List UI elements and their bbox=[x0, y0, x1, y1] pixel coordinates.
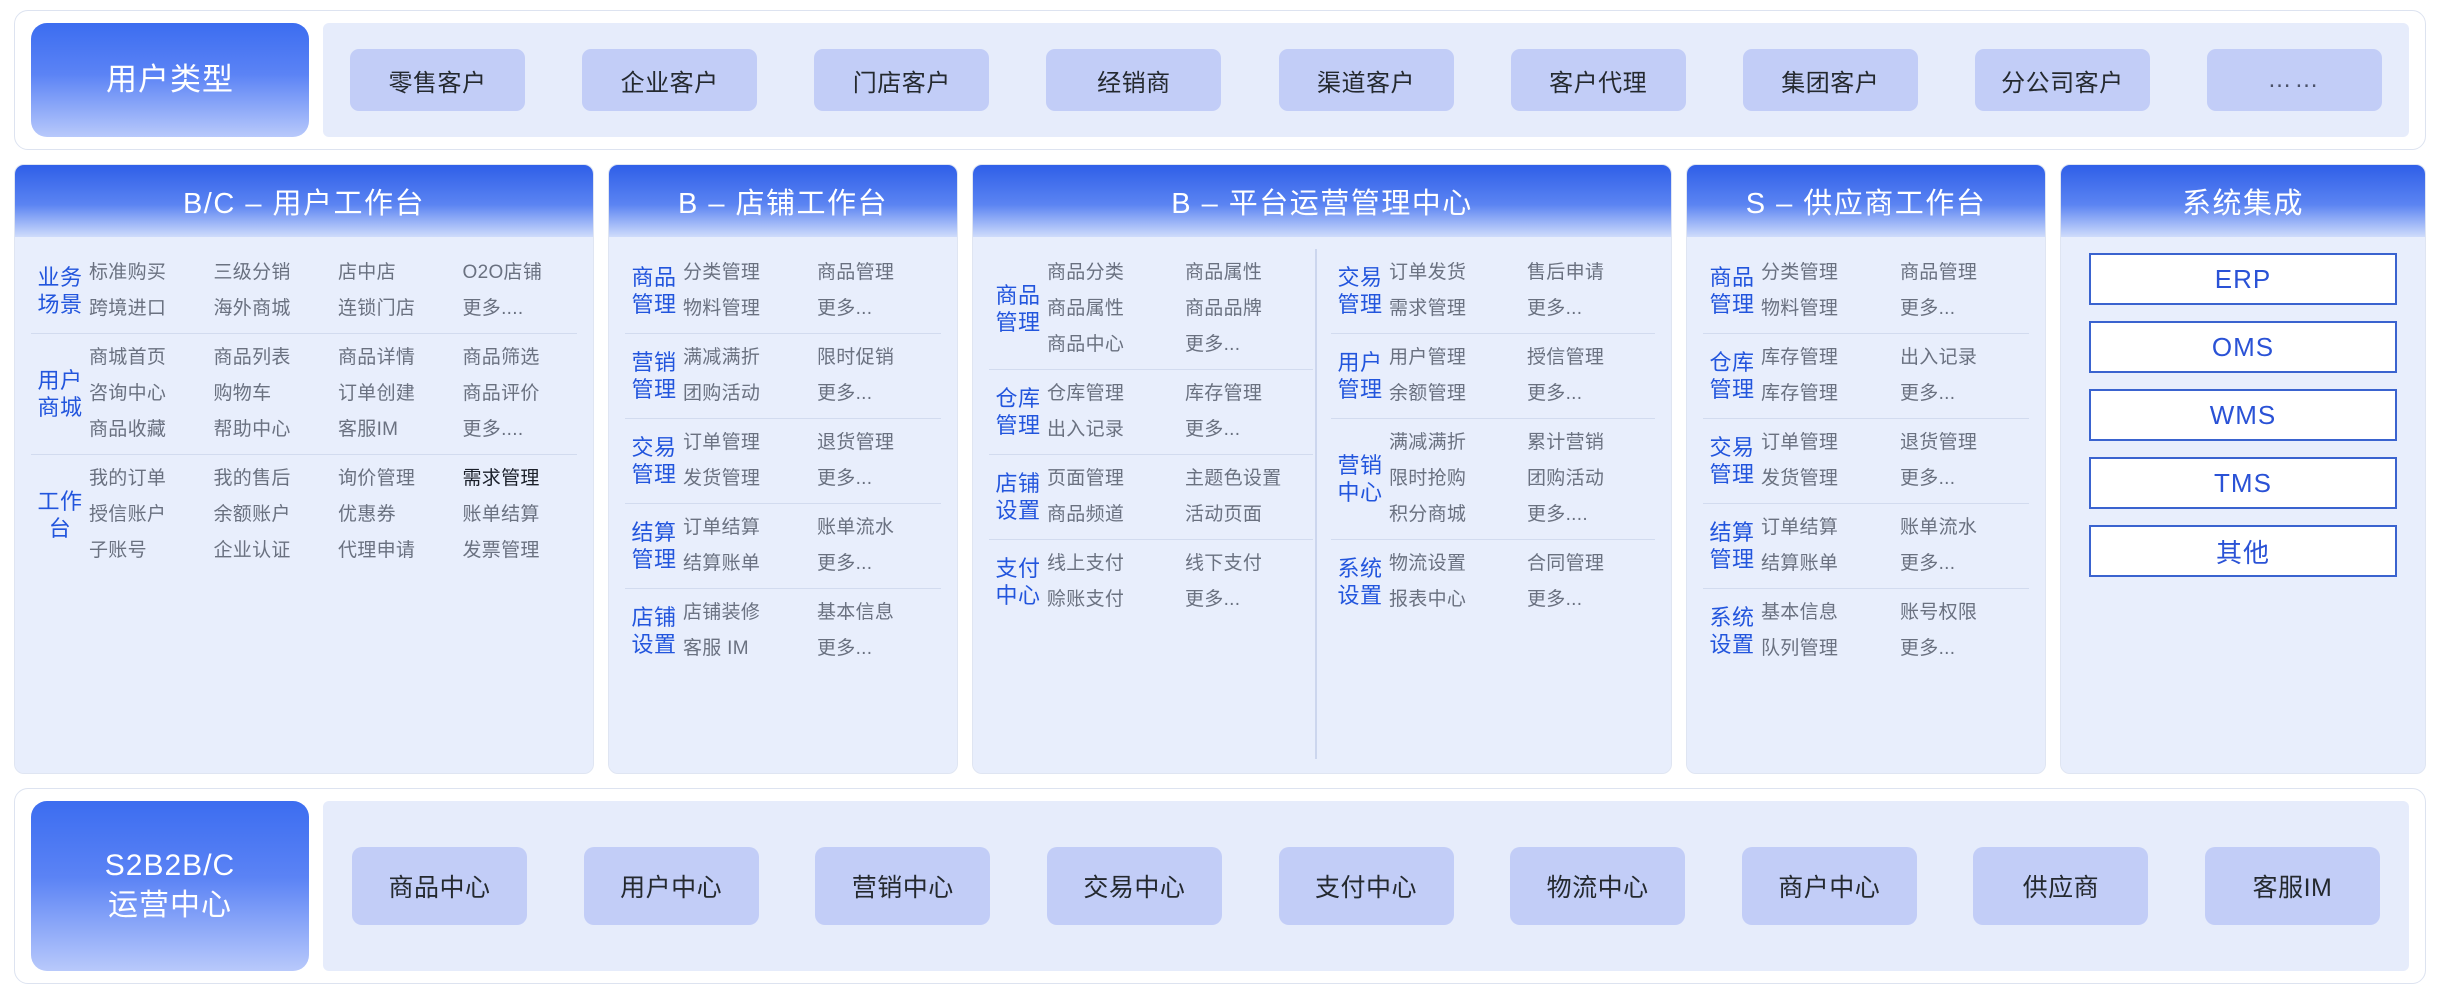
user-type-chip[interactable]: 分公司客户 bbox=[1975, 49, 2150, 111]
chip-label: 营销中心 bbox=[852, 868, 954, 904]
group-label: 营销 管理 bbox=[625, 349, 683, 404]
group-items: 订单管理 退货管理 发货管理 更多... bbox=[683, 428, 941, 494]
menu-item[interactable]: 结算账单 bbox=[683, 549, 807, 579]
menu-item[interactable]: 页面管理 bbox=[1047, 464, 1175, 494]
system-box-erp[interactable]: ERP bbox=[2089, 253, 2397, 305]
user-type-chip[interactable]: 渠道客户 bbox=[1279, 49, 1454, 111]
group-shop-settings: 店铺 设置 页面管理 主题色设置 商品频道 活动页面 bbox=[989, 454, 1313, 539]
group-label: 支付 中心 bbox=[989, 555, 1047, 610]
user-type-chip[interactable]: 零售客户 bbox=[350, 49, 525, 111]
menu-item[interactable]: 库存管理 bbox=[1185, 379, 1313, 409]
group-items: 线上支付 线下支付 赊账支付 更多... bbox=[1047, 549, 1313, 615]
menu-item[interactable]: 咨询中心 bbox=[89, 379, 204, 409]
group-items: 分类管理 商品管理 物料管理 更多... bbox=[1761, 258, 2029, 324]
chip-label: 供应商 bbox=[2023, 868, 2100, 904]
menu-item[interactable]: 限时促销 bbox=[817, 343, 941, 373]
center-chip-payment[interactable]: 支付中心 bbox=[1279, 847, 1454, 925]
menu-item-more[interactable]: 更多... bbox=[1527, 585, 1655, 615]
menu-item-more[interactable]: 更多... bbox=[817, 379, 941, 409]
menu-item-more[interactable]: 更多... bbox=[817, 549, 941, 579]
menu-item[interactable]: 账单结算 bbox=[463, 500, 578, 530]
menu-item[interactable]: 我的售后 bbox=[214, 464, 329, 494]
group-product-management: 商品 管理 商品分类 商品属性 商品属性 商品品牌 商品中心 更多... bbox=[989, 249, 1313, 369]
group-label: 店铺 设置 bbox=[625, 604, 683, 659]
group-system-settings: 系统 设置 物流设置 合同管理 报表中心 更多... bbox=[1331, 539, 1655, 624]
group-items: 物流设置 合同管理 报表中心 更多... bbox=[1389, 549, 1655, 615]
center-chip-product[interactable]: 商品中心 bbox=[352, 847, 527, 925]
chip-label: 物流中心 bbox=[1547, 868, 1649, 904]
system-box-other[interactable]: 其他 bbox=[2089, 525, 2397, 577]
group-transaction-management: 交易 管理 订单管理 退货管理 发货管理 更多... bbox=[1703, 418, 2029, 503]
column-body: 业务 场景 标准购买 三级分销 店中店 O2O店铺 跨境进口 海外商城 连锁门店… bbox=[15, 237, 593, 773]
chip-label: …… bbox=[2268, 66, 2322, 94]
menu-item[interactable]: 库存管理 bbox=[1761, 379, 1890, 409]
operation-center-chip-strip: 商品中心 用户中心 营销中心 交易中心 支付中心 物流中心 商户中心 供应商 客… bbox=[323, 801, 2409, 971]
group-label: 商品 管理 bbox=[1703, 264, 1761, 319]
group-items: 店铺装修 基本信息 客服 IM 更多... bbox=[683, 598, 941, 664]
system-box-oms[interactable]: OMS bbox=[2089, 321, 2397, 373]
menu-item[interactable]: 物料管理 bbox=[683, 294, 807, 324]
menu-item[interactable]: 商品属性 bbox=[1047, 294, 1175, 324]
group-items: 页面管理 主题色设置 商品频道 活动页面 bbox=[1047, 464, 1313, 530]
group-user-mall: 用户 商城 商城首页 商品列表 商品详情 商品筛选 咨询中心 购物车 订单创建 … bbox=[31, 333, 577, 454]
group-label: 交易 管理 bbox=[1703, 434, 1761, 489]
pane-primary: 业务 场景 标准购买 三级分销 店中店 O2O店铺 跨境进口 海外商城 连锁门店… bbox=[31, 249, 577, 759]
menu-item[interactable]: 授信管理 bbox=[1527, 343, 1655, 373]
group-settlement-management: 结算 管理 订单结算 账单流水 结算账单 更多... bbox=[1703, 503, 2029, 588]
menu-item-more[interactable]: 更多.... bbox=[463, 415, 578, 445]
group-workbench: 工作 台 我的订单 我的售后 询价管理 需求管理 授信账户 余额账户 优惠券 账… bbox=[31, 454, 577, 575]
group-payment-center: 支付 中心 线上支付 线下支付 赊账支付 更多... bbox=[989, 539, 1313, 624]
menu-item[interactable]: 仓库管理 bbox=[1047, 379, 1175, 409]
group-items: 基本信息 账号权限 队列管理 更多... bbox=[1761, 598, 2029, 664]
user-type-chip[interactable]: 门店客户 bbox=[814, 49, 989, 111]
chip-label: 用户中心 bbox=[620, 868, 722, 904]
user-type-chip-more[interactable]: …… bbox=[2207, 49, 2382, 111]
menu-item[interactable]: 商品中心 bbox=[1047, 330, 1175, 360]
menu-item[interactable]: 出入记录 bbox=[1047, 415, 1175, 445]
menu-item[interactable]: 团购活动 bbox=[683, 379, 807, 409]
menu-item[interactable]: 账号权限 bbox=[1900, 598, 2029, 628]
menu-item[interactable]: 合同管理 bbox=[1527, 549, 1655, 579]
center-chip-marketing[interactable]: 营销中心 bbox=[815, 847, 990, 925]
menu-item[interactable]: 发货管理 bbox=[1761, 464, 1890, 494]
menu-item[interactable]: 商品品牌 bbox=[1185, 294, 1313, 324]
menu-item-more[interactable]: 更多... bbox=[817, 294, 941, 324]
menu-item[interactable]: 售后申请 bbox=[1527, 258, 1655, 288]
menu-item-more[interactable]: 更多... bbox=[1900, 294, 2029, 324]
menu-item-more[interactable]: 更多... bbox=[1527, 294, 1655, 324]
menu-item-more[interactable]: 更多... bbox=[817, 464, 941, 494]
group-label: 交易 管理 bbox=[625, 434, 683, 489]
group-warehouse-management: 仓库 管理 仓库管理 库存管理 出入记录 更多... bbox=[989, 369, 1313, 454]
menu-item[interactable]: 店铺装修 bbox=[683, 598, 807, 628]
menu-item[interactable]: 限时抢购 bbox=[1389, 464, 1517, 494]
column-b-platform-operations: B – 平台运营管理中心 商品 管理 商品分类 商品属性 商品属性 商品品牌 商… bbox=[972, 164, 1672, 774]
menu-item[interactable]: 商品频道 bbox=[1047, 500, 1175, 530]
column-title: B – 平台运营管理中心 bbox=[973, 165, 1671, 237]
system-box-label: OMS bbox=[2212, 332, 2274, 363]
column-title: S – 供应商工作台 bbox=[1687, 165, 2045, 237]
group-label: 用户 管理 bbox=[1331, 349, 1389, 404]
pane-primary: 商品 管理 分类管理 商品管理 物料管理 更多... 营销 管理 满减满折 限时… bbox=[625, 249, 941, 759]
chip-label: 企业客户 bbox=[621, 63, 719, 98]
user-type-chip[interactable]: 集团客户 bbox=[1743, 49, 1918, 111]
menu-item[interactable]: 积分商城 bbox=[1389, 500, 1517, 530]
system-box-label: TMS bbox=[2214, 468, 2272, 499]
menu-item[interactable]: 跨境进口 bbox=[89, 294, 204, 324]
group-product-management: 商品 管理 分类管理 商品管理 物料管理 更多... bbox=[625, 249, 941, 333]
menu-item[interactable]: 线上支付 bbox=[1047, 549, 1175, 579]
menu-item[interactable]: 出入记录 bbox=[1900, 343, 2029, 373]
menu-item[interactable]: 订单发货 bbox=[1389, 258, 1517, 288]
menu-item-more[interactable]: 更多... bbox=[1900, 549, 2029, 579]
group-settlement-management: 结算 管理 订单结算 账单流水 结算账单 更多... bbox=[625, 503, 941, 588]
user-type-tile-label: 用户类型 bbox=[106, 59, 234, 101]
group-label: 营销 中心 bbox=[1331, 452, 1389, 507]
menu-item[interactable]: 海外商城 bbox=[214, 294, 329, 324]
menu-item-more[interactable]: 更多... bbox=[1900, 634, 2029, 664]
menu-item[interactable]: 授信账户 bbox=[89, 500, 204, 530]
chip-label: 分公司客户 bbox=[2001, 63, 2124, 98]
menu-item[interactable]: 订单创建 bbox=[338, 379, 453, 409]
menu-item[interactable]: 商品详情 bbox=[338, 343, 453, 373]
menu-item[interactable]: 分类管理 bbox=[683, 258, 807, 288]
menu-item[interactable]: 满减满折 bbox=[1389, 428, 1517, 458]
menu-item[interactable]: 发票管理 bbox=[463, 536, 578, 566]
group-label: 商品 管理 bbox=[989, 282, 1047, 337]
menu-item[interactable]: 需求管理 bbox=[1389, 294, 1517, 324]
menu-item[interactable]: 报表中心 bbox=[1389, 585, 1517, 615]
menu-item[interactable]: 赊账支付 bbox=[1047, 585, 1175, 615]
column-title-label: B – 店铺工作台 bbox=[678, 180, 888, 222]
column-title: 系统集成 bbox=[2061, 165, 2425, 237]
group-items: 标准购买 三级分销 店中店 O2O店铺 跨境进口 海外商城 连锁门店 更多...… bbox=[89, 258, 577, 324]
center-chip-logistics[interactable]: 物流中心 bbox=[1510, 847, 1685, 925]
group-items: 满减满折 累计营销 限时抢购 团购活动 积分商城 更多.... bbox=[1389, 428, 1655, 530]
menu-item[interactable]: 商品管理 bbox=[817, 258, 941, 288]
group-label: 系统 设置 bbox=[1331, 555, 1389, 610]
menu-item[interactable]: 商品筛选 bbox=[463, 343, 578, 373]
column-title: B – 店铺工作台 bbox=[609, 165, 957, 237]
chip-label: 客户代理 bbox=[1549, 63, 1647, 98]
menu-item[interactable]: 物流设置 bbox=[1389, 549, 1517, 579]
column-b-shop-workbench: B – 店铺工作台 商品 管理 分类管理 商品管理 物料管理 更多... bbox=[608, 164, 958, 774]
menu-item[interactable]: 订单管理 bbox=[683, 428, 807, 458]
group-items: 分类管理 商品管理 物料管理 更多... bbox=[683, 258, 941, 324]
menu-item[interactable]: 子账号 bbox=[89, 536, 204, 566]
group-items: 库存管理 出入记录 库存管理 更多... bbox=[1761, 343, 2029, 409]
center-chip-transaction[interactable]: 交易中心 bbox=[1047, 847, 1222, 925]
menu-item-more[interactable]: 更多... bbox=[817, 634, 941, 664]
menu-item[interactable]: 活动页面 bbox=[1185, 500, 1313, 530]
menu-item[interactable]: 退货管理 bbox=[817, 428, 941, 458]
column-bc-user-workbench: B/C – 用户工作台 业务 场景 标准购买 三级分销 店中店 O2O店铺 跨境… bbox=[14, 164, 594, 774]
operation-center-tile-label: S2B2B/C 运营中心 bbox=[105, 846, 235, 927]
menu-item[interactable]: 账单流水 bbox=[817, 513, 941, 543]
menu-item[interactable]: 客服IM bbox=[338, 415, 453, 445]
group-label: 系统 设置 bbox=[1703, 604, 1761, 659]
menu-item[interactable]: 代理申请 bbox=[338, 536, 453, 566]
menu-item[interactable]: 商品评价 bbox=[463, 379, 578, 409]
group-product-management: 商品 管理 分类管理 商品管理 物料管理 更多... bbox=[1703, 249, 2029, 333]
menu-item[interactable]: 商品属性 bbox=[1185, 258, 1313, 288]
menu-item[interactable]: 购物车 bbox=[214, 379, 329, 409]
menu-item[interactable]: 线下支付 bbox=[1185, 549, 1313, 579]
group-items: 满减满折 限时促销 团购活动 更多... bbox=[683, 343, 941, 409]
user-type-bar: 用户类型 零售客户 企业客户 门店客户 经销商 渠道客户 客户代理 集团客户 分… bbox=[14, 10, 2426, 150]
menu-item[interactable]: 物料管理 bbox=[1761, 294, 1890, 324]
group-label: 店铺 设置 bbox=[989, 470, 1047, 525]
group-system-settings: 系统 设置 基本信息 账号权限 队列管理 更多... bbox=[1703, 588, 2029, 673]
column-s-supplier-workbench: S – 供应商工作台 商品 管理 分类管理 商品管理 物料管理 更多... bbox=[1686, 164, 2046, 774]
column-title-label: 系统集成 bbox=[2182, 180, 2304, 222]
menu-item[interactable]: 订单结算 bbox=[1761, 513, 1890, 543]
user-type-chip[interactable]: 客户代理 bbox=[1511, 49, 1686, 111]
group-marketing-center: 营销 中心 满减满折 累计营销 限时抢购 团购活动 积分商城 更多.... bbox=[1331, 418, 1655, 539]
chip-label: 商品中心 bbox=[388, 868, 490, 904]
system-box-label: WMS bbox=[2210, 400, 2277, 431]
menu-item[interactable]: 退货管理 bbox=[1900, 428, 2029, 458]
menu-item-highlighted[interactable]: 需求管理 bbox=[463, 464, 578, 494]
menu-item[interactable]: O2O店铺 bbox=[463, 258, 578, 288]
group-marketing-management: 营销 管理 满减满折 限时促销 团购活动 更多... bbox=[625, 333, 941, 418]
column-title-label: B – 平台运营管理中心 bbox=[1171, 180, 1473, 222]
group-shop-settings: 店铺 设置 店铺装修 基本信息 客服 IM 更多... bbox=[625, 588, 941, 673]
menu-item-more[interactable]: 更多... bbox=[1900, 379, 2029, 409]
menu-item[interactable]: 商品分类 bbox=[1047, 258, 1175, 288]
group-user-management: 用户 管理 用户管理 授信管理 余额管理 更多... bbox=[1331, 333, 1655, 418]
group-items: 订单结算 账单流水 结算账单 更多... bbox=[1761, 513, 2029, 579]
menu-item[interactable]: 用户管理 bbox=[1389, 343, 1517, 373]
menu-item[interactable]: 标准购买 bbox=[89, 258, 204, 288]
group-transaction-management: 交易 管理 订单管理 退货管理 发货管理 更多... bbox=[625, 418, 941, 503]
menu-item[interactable]: 我的订单 bbox=[89, 464, 204, 494]
menu-item[interactable]: 库存管理 bbox=[1761, 343, 1890, 373]
center-chip-supplier[interactable]: 供应商 bbox=[1973, 847, 2148, 925]
menu-item-more[interactable]: 更多.... bbox=[463, 294, 578, 324]
chip-label: 客服IM bbox=[2253, 868, 2333, 904]
menu-item[interactable]: 商城首页 bbox=[89, 343, 204, 373]
group-business-scene: 业务 场景 标准购买 三级分销 店中店 O2O店铺 跨境进口 海外商城 连锁门店… bbox=[31, 249, 577, 333]
group-label: 商品 管理 bbox=[625, 264, 683, 319]
operation-center-tile: S2B2B/C 运营中心 bbox=[31, 801, 309, 971]
group-items: 订单结算 账单流水 结算账单 更多... bbox=[683, 513, 941, 579]
user-type-tile: 用户类型 bbox=[31, 23, 309, 137]
menu-item[interactable]: 客服 IM bbox=[683, 634, 807, 664]
column-title-label: S – 供应商工作台 bbox=[1746, 180, 1987, 222]
chip-label: 交易中心 bbox=[1083, 868, 1185, 904]
menu-item-more[interactable]: 更多... bbox=[1185, 585, 1313, 615]
group-items: 商品分类 商品属性 商品属性 商品品牌 商品中心 更多... bbox=[1047, 258, 1313, 360]
menu-item[interactable]: 基本信息 bbox=[817, 598, 941, 628]
menu-item[interactable]: 团购活动 bbox=[1527, 464, 1655, 494]
menu-item[interactable]: 优惠券 bbox=[338, 500, 453, 530]
menu-item[interactable]: 询价管理 bbox=[338, 464, 453, 494]
menu-item[interactable]: 连锁门店 bbox=[338, 294, 453, 324]
menu-item[interactable]: 队列管理 bbox=[1761, 634, 1890, 664]
group-label: 交易 管理 bbox=[1331, 264, 1389, 319]
pane-left: 商品 管理 商品分类 商品属性 商品属性 商品品牌 商品中心 更多... 仓库 … bbox=[989, 249, 1313, 759]
menu-item[interactable]: 店中店 bbox=[338, 258, 453, 288]
menu-item[interactable]: 三级分销 bbox=[214, 258, 329, 288]
group-warehouse-management: 仓库 管理 库存管理 出入记录 库存管理 更多... bbox=[1703, 333, 2029, 418]
operation-center-bar: S2B2B/C 运营中心 商品中心 用户中心 营销中心 交易中心 支付中心 物流… bbox=[14, 788, 2426, 984]
column-body: 商品 管理 商品分类 商品属性 商品属性 商品品牌 商品中心 更多... 仓库 … bbox=[973, 237, 1671, 773]
menu-item[interactable]: 商品管理 bbox=[1900, 258, 2029, 288]
group-label: 仓库 管理 bbox=[989, 385, 1047, 440]
column-system-integration: 系统集成 ERP OMS WMS TMS 其他 bbox=[2060, 164, 2426, 774]
menu-item-more[interactable]: 更多... bbox=[1185, 415, 1313, 445]
menu-item[interactable]: 商品列表 bbox=[214, 343, 329, 373]
user-type-chip[interactable]: 经销商 bbox=[1046, 49, 1221, 111]
center-chip-user[interactable]: 用户中心 bbox=[584, 847, 759, 925]
group-label: 结算 管理 bbox=[625, 519, 683, 574]
group-label: 结算 管理 bbox=[1703, 519, 1761, 574]
menu-item[interactable]: 基本信息 bbox=[1761, 598, 1890, 628]
group-label: 仓库 管理 bbox=[1703, 349, 1761, 404]
chip-label: 支付中心 bbox=[1315, 868, 1417, 904]
menu-item[interactable]: 订单结算 bbox=[683, 513, 807, 543]
column-title-label: B/C – 用户工作台 bbox=[183, 180, 425, 222]
column-body: 商品 管理 分类管理 商品管理 物料管理 更多... 营销 管理 满减满折 限时… bbox=[609, 237, 957, 773]
group-label: 用户 商城 bbox=[31, 367, 89, 422]
menu-item[interactable]: 订单管理 bbox=[1761, 428, 1890, 458]
menu-item-more[interactable]: 更多... bbox=[1900, 464, 2029, 494]
group-items: 订单发货 售后申请 需求管理 更多... bbox=[1389, 258, 1655, 324]
system-box-label: 其他 bbox=[2216, 533, 2270, 570]
page-root: 用户类型 零售客户 企业客户 门店客户 经销商 渠道客户 客户代理 集团客户 分… bbox=[0, 0, 2440, 994]
menu-item[interactable]: 企业认证 bbox=[214, 536, 329, 566]
workbench-columns: B/C – 用户工作台 业务 场景 标准购买 三级分销 店中店 O2O店铺 跨境… bbox=[14, 164, 2426, 774]
menu-item[interactable]: 余额管理 bbox=[1389, 379, 1517, 409]
chip-label: 零售客户 bbox=[389, 63, 487, 98]
menu-item[interactable]: 帮助中心 bbox=[214, 415, 329, 445]
menu-item[interactable]: 满减满折 bbox=[683, 343, 807, 373]
center-chip-service-im[interactable]: 客服IM bbox=[2205, 847, 2380, 925]
menu-item[interactable]: 结算账单 bbox=[1761, 549, 1890, 579]
pane-primary: 商品 管理 分类管理 商品管理 物料管理 更多... 仓库 管理 库存管理 出入… bbox=[1703, 249, 2029, 759]
menu-item[interactable]: 分类管理 bbox=[1761, 258, 1890, 288]
group-transaction-management: 交易 管理 订单发货 售后申请 需求管理 更多... bbox=[1331, 249, 1655, 333]
chip-label: 经销商 bbox=[1097, 63, 1171, 98]
menu-item-more[interactable]: 更多... bbox=[1185, 330, 1313, 360]
column-title: B/C – 用户工作台 bbox=[15, 165, 593, 237]
group-items: 用户管理 授信管理 余额管理 更多... bbox=[1389, 343, 1655, 409]
system-box-wms[interactable]: WMS bbox=[2089, 389, 2397, 441]
chip-label: 商户中心 bbox=[1778, 868, 1880, 904]
group-items: 订单管理 退货管理 发货管理 更多... bbox=[1761, 428, 2029, 494]
menu-item[interactable]: 累计营销 bbox=[1527, 428, 1655, 458]
system-box-tms[interactable]: TMS bbox=[2089, 457, 2397, 509]
chip-label: 集团客户 bbox=[1781, 63, 1879, 98]
pane-right: 交易 管理 订单发货 售后申请 需求管理 更多... 用户 管理 用户管理 授信… bbox=[1315, 249, 1655, 759]
menu-item-more[interactable]: 更多.... bbox=[1527, 500, 1655, 530]
group-label: 业务 场景 bbox=[31, 264, 89, 319]
menu-item[interactable]: 余额账户 bbox=[214, 500, 329, 530]
group-label: 工作 台 bbox=[31, 488, 89, 543]
menu-item[interactable]: 发货管理 bbox=[683, 464, 807, 494]
user-type-chip-strip: 零售客户 企业客户 门店客户 经销商 渠道客户 客户代理 集团客户 分公司客户 … bbox=[323, 23, 2409, 137]
column-body: ERP OMS WMS TMS 其他 bbox=[2061, 237, 2425, 773]
system-box-label: ERP bbox=[2215, 264, 2271, 295]
user-type-chip[interactable]: 企业客户 bbox=[582, 49, 757, 111]
menu-item[interactable]: 账单流水 bbox=[1900, 513, 2029, 543]
column-body: 商品 管理 分类管理 商品管理 物料管理 更多... 仓库 管理 库存管理 出入… bbox=[1687, 237, 2045, 773]
chip-label: 门店客户 bbox=[853, 63, 951, 98]
center-chip-merchant[interactable]: 商户中心 bbox=[1742, 847, 1917, 925]
menu-item[interactable]: 主题色设置 bbox=[1185, 464, 1313, 494]
group-items: 仓库管理 库存管理 出入记录 更多... bbox=[1047, 379, 1313, 445]
menu-item-more[interactable]: 更多... bbox=[1527, 379, 1655, 409]
menu-item[interactable]: 商品收藏 bbox=[89, 415, 204, 445]
group-items: 商城首页 商品列表 商品详情 商品筛选 咨询中心 购物车 订单创建 商品评价 商… bbox=[89, 343, 577, 445]
group-items: 我的订单 我的售后 询价管理 需求管理 授信账户 余额账户 优惠券 账单结算 子… bbox=[89, 464, 577, 566]
chip-label: 渠道客户 bbox=[1317, 63, 1415, 98]
